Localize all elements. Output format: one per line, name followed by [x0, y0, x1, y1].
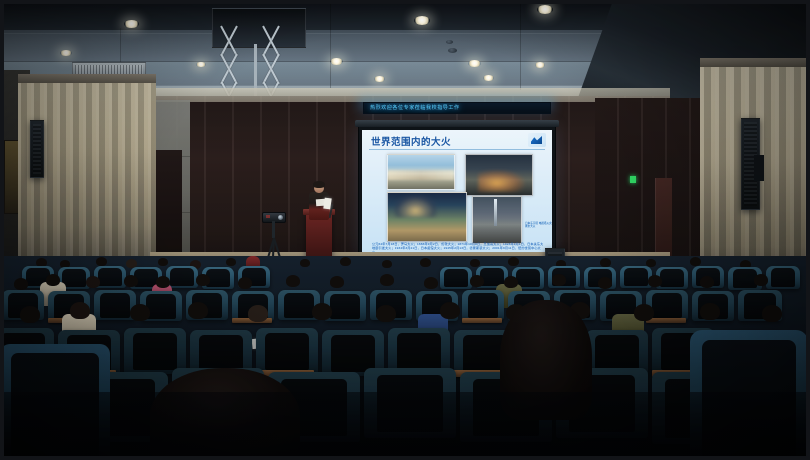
- attendee-head: [70, 302, 90, 319]
- tripod-column: [272, 221, 275, 238]
- ceiling-downlight: [483, 75, 494, 81]
- attendee-head: [96, 257, 107, 266]
- attendee-head: [552, 274, 566, 286]
- attendee-head: [330, 276, 344, 288]
- attendee-head: [382, 260, 392, 268]
- ceiling-downlight: [374, 76, 385, 82]
- attendee-head: [158, 258, 168, 266]
- exit-indicator-light: [630, 176, 636, 183]
- ceiling-seam: [330, 0, 331, 88]
- speaker-bracket: [754, 155, 764, 181]
- attendee-head: [504, 276, 518, 288]
- attendee-head: [86, 276, 100, 288]
- auditorium-seat: [256, 328, 318, 374]
- attendee-head: [300, 259, 310, 267]
- led-banner: 热烈欢迎各位专家莅临我校指导工作: [363, 102, 551, 114]
- attendee-head: [124, 275, 138, 287]
- attendee-head: [286, 275, 300, 287]
- attendee-head: [762, 305, 782, 322]
- slide-photo-industrial-fire: [387, 192, 467, 242]
- auditorium-seat: [440, 267, 472, 289]
- foreground-shadow: [0, 392, 810, 460]
- ceiling-downlight: [468, 60, 481, 67]
- attendee-head: [470, 275, 484, 287]
- attendee-head: [196, 274, 210, 286]
- attendee-head: [188, 302, 208, 319]
- wall-speaker-left: [30, 120, 44, 178]
- attendee-head: [648, 275, 662, 287]
- projection-screen: 世界范围内的大火 日本东京塔 电视塔火灾 城市大火 公元64年7月18日，罗马大…: [358, 126, 556, 256]
- auditorium-seat: [766, 266, 800, 289]
- auditorium-seat: [462, 290, 504, 320]
- ceiling-downlight: [124, 20, 139, 28]
- screen-roller-case: [355, 120, 559, 127]
- ceiling-downlight: [330, 58, 343, 65]
- slide-body-text: 公元64年7月18日，罗马大火；1666年9月2日，伦敦大火；1871年10月8…: [372, 242, 544, 252]
- attendee-head: [376, 305, 396, 322]
- attendee-head: [700, 276, 714, 288]
- ceiling-downlight: [535, 62, 545, 68]
- ceiling-seam: [520, 0, 521, 90]
- attendee-head: [508, 257, 519, 266]
- slide-title: 世界范围内的大火: [371, 134, 451, 148]
- ceiling-downlight: [60, 50, 72, 56]
- attendee-head: [598, 277, 612, 289]
- folding-desk: [462, 318, 502, 323]
- presenter-hair: [313, 181, 325, 188]
- attendee-head: [14, 278, 28, 290]
- slide-photo-panoramic-city-fire: [387, 154, 455, 190]
- presentation-slide: 世界范围内的大火 日本东京塔 电视塔火灾 城市大火 公元64年7月18日，罗马大…: [362, 130, 552, 252]
- slide-photo-caption: 日本东京塔 电视塔火灾 城市大火: [525, 222, 552, 229]
- auditorium-seat: [620, 266, 652, 288]
- auditorium-seat: [166, 266, 198, 288]
- curtain-rail: [700, 58, 808, 67]
- attendee-head: [312, 303, 332, 320]
- ceiling-downlight: [537, 5, 553, 14]
- lecture-hall-photograph: 热烈欢迎各位专家莅临我校指导工作 世界范围内的大火 日本东京塔 电视塔火灾 城市…: [0, 0, 810, 460]
- attendee-head: [46, 274, 60, 286]
- camera-record-light: [266, 215, 270, 218]
- ceiling-downlight: [414, 16, 430, 25]
- speaker-at-lectern: [308, 182, 330, 220]
- attendee-head: [340, 257, 351, 266]
- ceiling-downlight: [196, 62, 206, 67]
- attendee-head: [634, 304, 654, 321]
- attendee-head: [700, 303, 720, 320]
- camera-lens-icon: [278, 215, 283, 220]
- attendee-head: [20, 306, 40, 323]
- folding-desk: [646, 318, 686, 323]
- attendee-head: [226, 258, 236, 266]
- attendee-head: [440, 302, 460, 319]
- attendee-head: [424, 277, 438, 289]
- attendee-head: [248, 305, 268, 322]
- attendee-head: [600, 258, 611, 267]
- slide-photo-night-fire: [465, 154, 533, 196]
- attendee-head: [420, 258, 431, 267]
- attendee-head: [690, 257, 701, 266]
- slide-title-underline: [369, 149, 545, 150]
- attendee-head: [156, 276, 170, 288]
- attendee-head: [238, 277, 252, 289]
- institution-logo: [528, 133, 546, 147]
- led-banner-text: 热烈欢迎各位专家莅临我校指导工作: [370, 104, 460, 111]
- auditorium-seat: [124, 328, 186, 374]
- curtain-rail: [18, 74, 156, 83]
- attendee-head: [470, 259, 480, 267]
- attendee-head: [380, 274, 394, 286]
- attendee-head: [130, 304, 150, 321]
- slide-photo-tower-city: [472, 196, 522, 244]
- smoke-detector-icon: [448, 48, 457, 53]
- attendee-head: [754, 274, 768, 286]
- smoke-detector-icon: [446, 40, 453, 44]
- left-window-curtain: [18, 74, 156, 284]
